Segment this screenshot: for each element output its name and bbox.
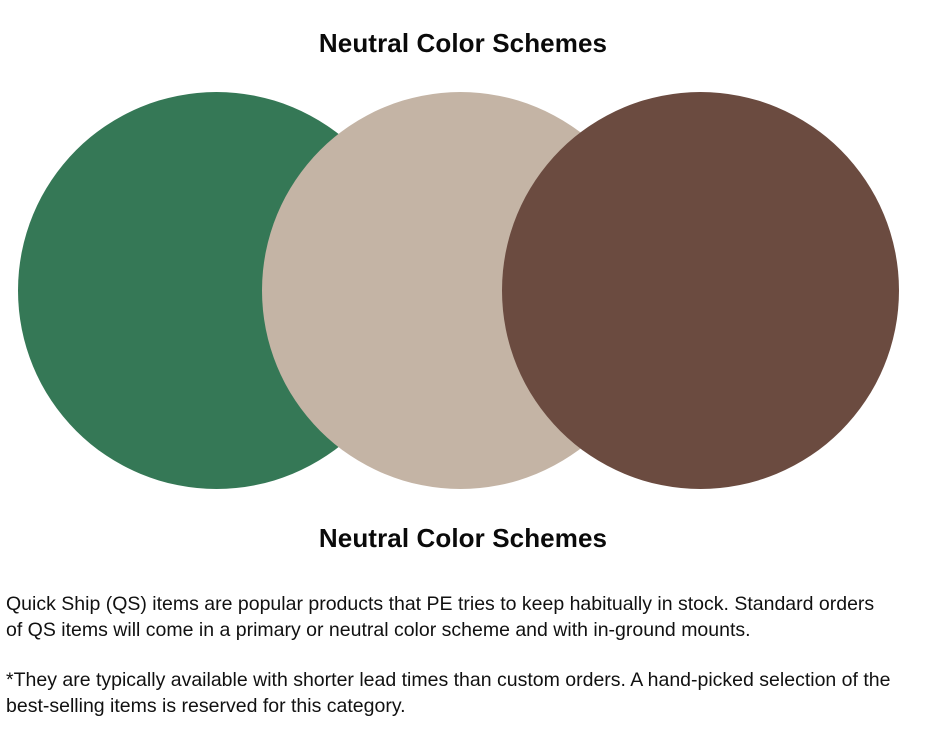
color-scheme-page: Neutral Color Schemes Neutral Color Sche… <box>0 0 926 752</box>
paragraph-lead-times-note: *They are typically available with short… <box>6 668 894 719</box>
color-swatch-brown <box>502 92 899 489</box>
page-title-top: Neutral Color Schemes <box>0 27 926 59</box>
body-copy: Quick Ship (QS) items are popular produc… <box>6 592 894 719</box>
color-swatch-group <box>0 92 926 489</box>
paragraph-quick-ship: Quick Ship (QS) items are popular produc… <box>6 592 894 643</box>
page-title-bottom: Neutral Color Schemes <box>0 522 926 554</box>
